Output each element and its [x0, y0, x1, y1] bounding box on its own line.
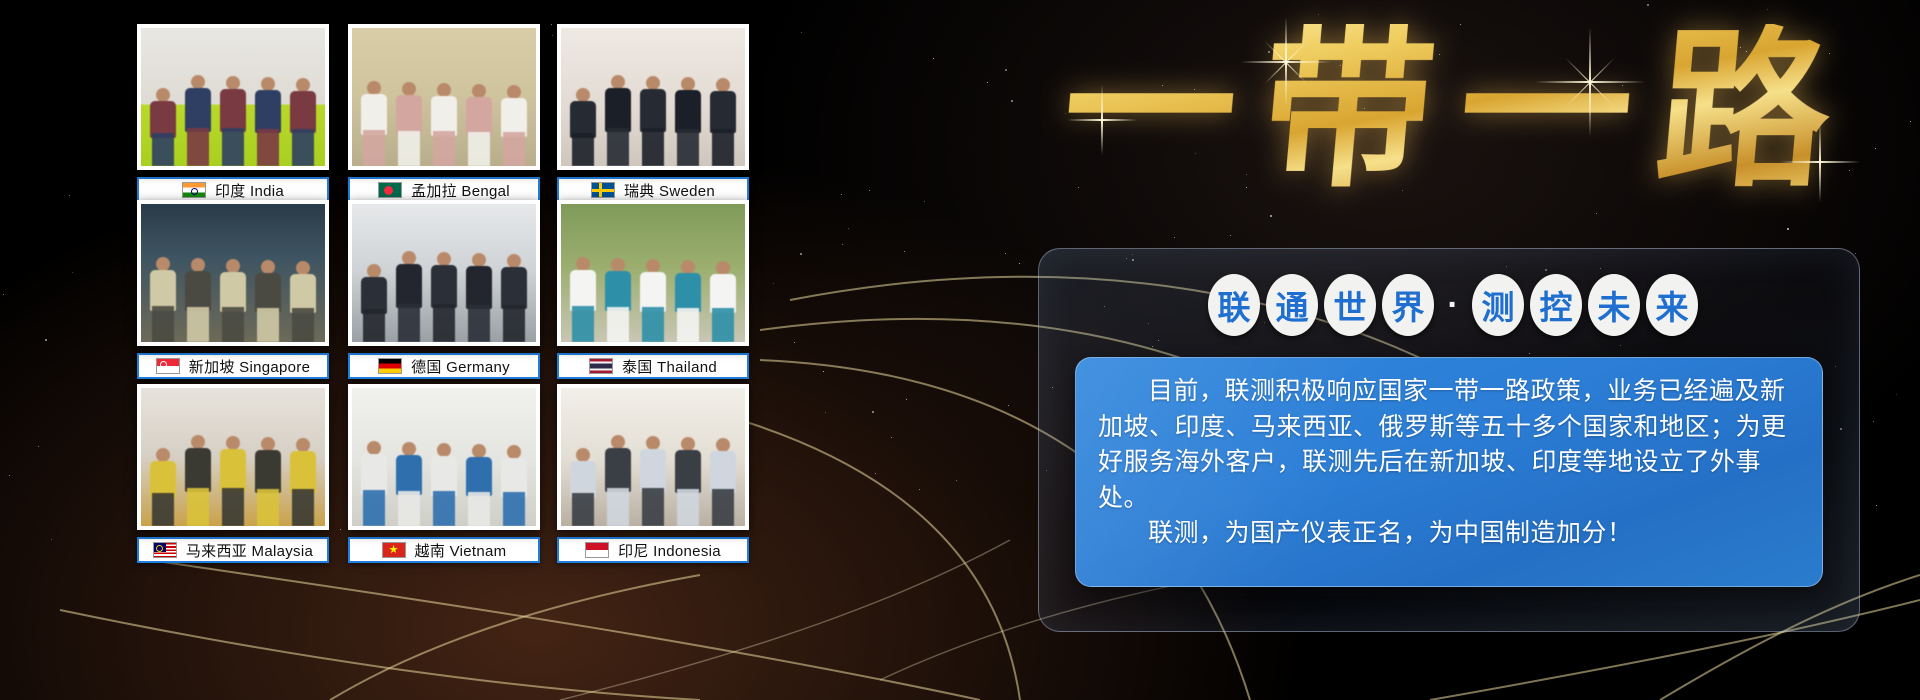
slogan-char: 来: [1646, 274, 1698, 336]
banner-root: 印度 India孟加拉 Bengal瑞典 Sweden新加坡 Singapore…: [0, 0, 1920, 700]
calligraphy-text: 一带一路: [1056, 24, 1863, 196]
slogan-char: 联: [1208, 274, 1260, 336]
flag-bangladesh-icon: [378, 182, 402, 198]
flag-vietnam-icon: ★: [382, 542, 406, 558]
country-card[interactable]: 瑞典 Sweden: [557, 24, 749, 203]
blurb-line: 联测，为国产仪表正名，为中国制造加分！: [1098, 516, 1800, 552]
country-label-text: 孟加拉 Bengal: [411, 180, 510, 201]
photo-malaysia[interactable]: [137, 384, 329, 530]
slogan-char: 未: [1588, 274, 1640, 336]
photo-thailand[interactable]: [557, 200, 749, 346]
slogan-char: 测: [1472, 274, 1524, 336]
photo-sweden[interactable]: [557, 24, 749, 170]
country-photo-grid: 印度 India孟加拉 Bengal瑞典 Sweden新加坡 Singapore…: [120, 8, 780, 692]
country-card[interactable]: ★越南 Vietnam: [348, 384, 540, 563]
country-label: ★越南 Vietnam: [348, 537, 540, 563]
country-label-text: 泰国 Thailand: [622, 356, 717, 377]
slogan-row: 联通世界·测控未来: [1039, 273, 1859, 337]
slogan-char: 控: [1530, 274, 1582, 336]
country-label: 印尼 Indonesia: [557, 537, 749, 563]
country-label-text: 印尼 Indonesia: [618, 540, 721, 561]
slogan-char-separator: ·: [1440, 274, 1466, 336]
flag-germany-icon: [378, 358, 402, 374]
slogan-char: 界: [1382, 274, 1434, 336]
flag-singapore-icon: [156, 358, 180, 374]
country-card[interactable]: 新加坡 Singapore: [137, 200, 329, 379]
flag-indonesia-icon: [585, 542, 609, 558]
slogan-char: 世: [1324, 274, 1376, 336]
country-card[interactable]: 印度 India: [137, 24, 329, 203]
country-label-text: 马来西亚 Malaysia: [186, 540, 313, 561]
slogan-char: 通: [1266, 274, 1318, 336]
calligraphy-title: 一带一路: [1030, 2, 1890, 217]
flag-thailand-icon: [589, 358, 613, 374]
country-label-text: 新加坡 Singapore: [189, 356, 310, 377]
country-card[interactable]: 泰国 Thailand: [557, 200, 749, 379]
country-card[interactable]: 德国 Germany: [348, 200, 540, 379]
flag-malaysia-icon: [153, 542, 177, 558]
country-label-text: 德国 Germany: [411, 356, 510, 377]
photo-bengal[interactable]: [348, 24, 540, 170]
country-label-text: 印度 India: [215, 180, 284, 201]
photo-singapore[interactable]: [137, 200, 329, 346]
photo-indonesia[interactable]: [557, 384, 749, 530]
country-card[interactable]: 印尼 Indonesia: [557, 384, 749, 563]
photo-india[interactable]: [137, 24, 329, 170]
flag-india-icon: [182, 182, 206, 198]
country-label: 马来西亚 Malaysia: [137, 537, 329, 563]
flag-sweden-icon: [591, 182, 615, 198]
country-label-text: 越南 Vietnam: [415, 540, 507, 561]
country-card[interactable]: 马来西亚 Malaysia: [137, 384, 329, 563]
country-label: 泰国 Thailand: [557, 353, 749, 379]
photo-vietnam[interactable]: [348, 384, 540, 530]
blurb-line: 目前，联测积极响应国家一带一路政策，业务已经遍及新加坡、印度、马来西亚、俄罗斯等…: [1098, 374, 1800, 516]
country-label-text: 瑞典 Sweden: [624, 180, 715, 201]
info-panel: 联通世界·测控未来 目前，联测积极响应国家一带一路政策，业务已经遍及新加坡、印度…: [1038, 248, 1860, 632]
country-label: 新加坡 Singapore: [137, 353, 329, 379]
photo-germany[interactable]: [348, 200, 540, 346]
country-card[interactable]: 孟加拉 Bengal: [348, 24, 540, 203]
blurb-panel: 目前，联测积极响应国家一带一路政策，业务已经遍及新加坡、印度、马来西亚、俄罗斯等…: [1075, 357, 1823, 587]
country-label: 德国 Germany: [348, 353, 540, 379]
